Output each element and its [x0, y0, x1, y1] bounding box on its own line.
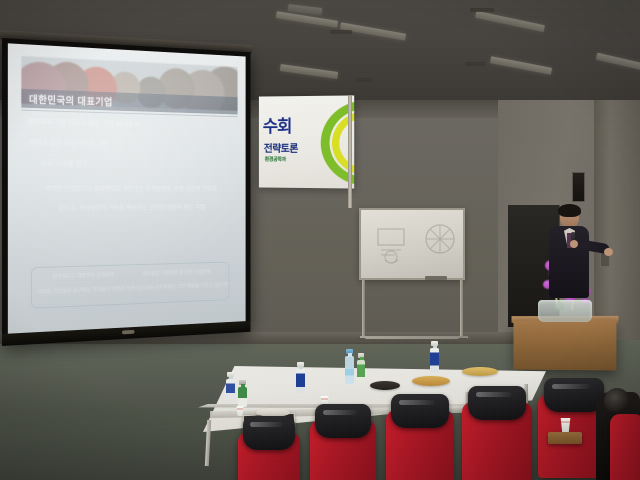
- ceiling-vent: [465, 62, 485, 66]
- auditorium-seat[interactable]: [610, 398, 640, 480]
- snack-plate-fruit[interactable]: [412, 376, 450, 386]
- slide-title: 대한민국의 대표기업: [21, 91, 112, 109]
- whiteboard-caster: [458, 338, 468, 342]
- whiteboard-marker-tray: [425, 276, 447, 280]
- callout-right-text: 자아실현 기회제공 을 위한 기업문화: [142, 268, 210, 278]
- ceiling-light-icon: [475, 11, 545, 32]
- auditorium-seat[interactable]: [238, 416, 300, 480]
- whiteboard-leg: [362, 280, 365, 338]
- auditorium-seat[interactable]: [462, 386, 532, 480]
- ceiling-vent: [355, 78, 373, 82]
- slide-body: 한국에서 가장 일하고 싶은 기업 BEST 30 일하고 싶은 기업 선호도 …: [23, 118, 236, 234]
- snack-plate-chips[interactable]: [462, 367, 498, 376]
- ceiling-light-icon: [276, 11, 338, 28]
- banner-department: 환경공학과: [265, 156, 286, 163]
- slide-callout-box: 창의적이고 개방적인 조직문화 자아실현 기회제공 을 위한 기업문화 이러한 …: [31, 262, 230, 309]
- presenter-hand: [604, 248, 613, 256]
- slide-line: - 신문 스크랩 참고: [23, 159, 236, 169]
- wall-speaker-icon: [572, 172, 585, 202]
- ceiling-light-icon: [490, 56, 552, 75]
- stage-block: [513, 320, 616, 371]
- banner-subtitle: 전략토론: [264, 140, 298, 155]
- projected-slide: 대한민국의 대표기업 한국에서 가장 일하고 싶은 기업 BEST 30 일하고…: [8, 43, 246, 333]
- ceiling-light-icon: [596, 53, 640, 71]
- banner-title: 수회: [263, 112, 292, 137]
- presenter: [540, 206, 610, 326]
- ceiling-vent: [330, 30, 352, 34]
- slide-line: 체계적 인재관리와 창의적이고 개방적인 조직문화를 통해 개인의 역량을: [23, 185, 236, 192]
- whiteboard-sketch-icon: [419, 220, 461, 260]
- whiteboard-sketch-icon: [375, 226, 415, 268]
- conference-room-photo: 대한민국의 대표기업 한국에서 가장 일하고 싶은 기업 BEST 30 일하고…: [0, 0, 640, 480]
- auditorium-seat[interactable]: [310, 404, 376, 480]
- slide-line: 일하고 싶은 기업 선호도 1위: [23, 138, 236, 150]
- swoosh-logo-icon: [288, 99, 354, 186]
- seat-tablet-arm[interactable]: [548, 432, 582, 444]
- snack-plate-dark[interactable]: [370, 381, 400, 390]
- callout-wide-text: 이러한 기업들이 요구하는 우리들의 덕목은 어떤 것이 되는가? 우리는 그런…: [38, 281, 224, 296]
- slide-line: 높이고, 자아실현적 기회를 제공하는 선망의 대상이 되는 기업: [23, 204, 236, 212]
- mobile-whiteboard[interactable]: [359, 208, 465, 280]
- event-banner: 수회 전략토론 환경공학과: [259, 95, 354, 188]
- presenter-hair: [558, 204, 581, 217]
- presenter-mic-hand: [570, 240, 578, 248]
- callout-left-text: 창의적이고 개방적인 조직문화: [52, 271, 114, 281]
- whiteboard-crossbar: [360, 336, 468, 339]
- auditorium-seat[interactable]: [386, 394, 454, 480]
- whiteboard-leg: [460, 280, 463, 338]
- screen-frame: 대한민국의 대표기업 한국에서 가장 일하고 싶은 기업 BEST 30 일하고…: [2, 38, 250, 346]
- ceiling-vent: [470, 8, 494, 12]
- slide-line: 한국에서 가장 일하고 싶은 기업 BEST 30: [23, 118, 236, 131]
- whiteboard-caster: [356, 338, 366, 342]
- projection-screen: 대한민국의 대표기업 한국에서 가장 일하고 싶은 기업 BEST 30 일하고…: [2, 38, 250, 346]
- ceiling-light-icon: [280, 64, 338, 79]
- banner-pole: [348, 96, 352, 208]
